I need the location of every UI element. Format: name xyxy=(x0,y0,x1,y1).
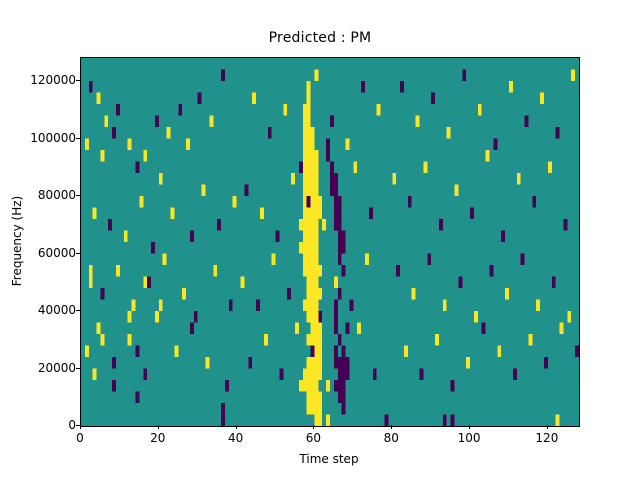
y-tick-label: 40000 xyxy=(38,303,76,317)
page-title: Predicted : PM xyxy=(0,30,640,46)
y-axis-label: Frequency (Hz) xyxy=(10,196,24,287)
x-tick-label: 120 xyxy=(535,431,558,445)
x-tick-mark xyxy=(547,425,548,429)
x-tick-label: 60 xyxy=(306,431,321,445)
x-tick-mark xyxy=(236,425,237,429)
y-tick-label: 100000 xyxy=(30,131,76,145)
y-tick-mark xyxy=(76,310,80,311)
x-tick-label: 80 xyxy=(384,431,399,445)
heatmap-image xyxy=(81,58,579,426)
x-tick-mark xyxy=(391,425,392,429)
matplotlib-figure: Predicted : PM 0204060801001200200004000… xyxy=(0,0,640,480)
y-tick-label: 120000 xyxy=(30,73,76,87)
y-tick-label: 20000 xyxy=(38,361,76,375)
x-tick-mark xyxy=(313,425,314,429)
x-tick-label: 40 xyxy=(228,431,243,445)
y-tick-mark xyxy=(76,368,80,369)
y-tick-label: 80000 xyxy=(38,188,76,202)
x-tick-label: 100 xyxy=(458,431,481,445)
y-tick-label: 0 xyxy=(68,418,76,432)
y-tick-mark xyxy=(76,80,80,81)
x-tick-mark xyxy=(158,425,159,429)
x-tick-mark xyxy=(80,425,81,429)
y-tick-mark xyxy=(76,138,80,139)
y-tick-label: 60000 xyxy=(38,246,76,260)
y-tick-mark xyxy=(76,195,80,196)
x-axis-label: Time step xyxy=(80,452,578,466)
y-tick-mark xyxy=(76,425,80,426)
heatmap-axes xyxy=(80,57,580,427)
x-tick-label: 0 xyxy=(76,431,84,445)
y-tick-mark xyxy=(76,253,80,254)
x-tick-mark xyxy=(469,425,470,429)
x-tick-label: 20 xyxy=(150,431,165,445)
